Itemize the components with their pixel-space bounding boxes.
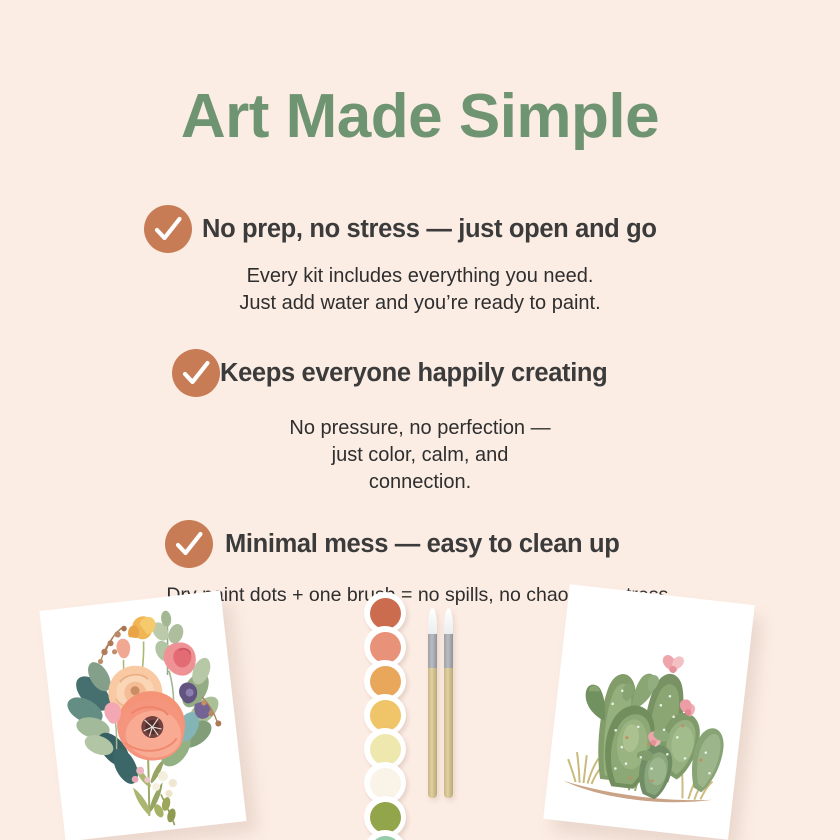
watercolor-cactus-cluster-artwork <box>543 584 755 840</box>
paint-dot-strip <box>364 592 410 840</box>
paint-dot <box>370 598 401 629</box>
brush-ferrule <box>428 634 437 668</box>
check-circle-icon <box>144 205 192 253</box>
paint-dot <box>370 734 401 765</box>
benefit-body: Every kit includes everything you need. … <box>0 263 840 317</box>
paint-dot <box>370 768 401 799</box>
brush-tip <box>428 608 437 634</box>
benefit-heading-row: No prep, no stress — just open and go <box>0 205 840 253</box>
benefit-body-line: just color, calm, and <box>0 442 840 469</box>
benefit-body-line: Just add water and you’re ready to paint… <box>0 290 840 317</box>
brush-handle <box>444 668 453 798</box>
check-circle-icon <box>165 520 213 568</box>
page-title: Art Made Simple <box>0 86 840 148</box>
cactus-art-card <box>543 584 755 840</box>
paint-dot <box>370 802 401 833</box>
paint-dot <box>370 700 401 731</box>
brush-handle <box>428 668 437 798</box>
product-scene <box>0 570 840 840</box>
benefits-list: No prep, no stress — just open and go Ev… <box>0 205 840 608</box>
brush-ferrule <box>444 634 453 668</box>
brush-tip <box>444 608 453 634</box>
benefit-body-line: Every kit includes everything you need. <box>0 263 840 290</box>
paint-brush <box>428 608 437 798</box>
benefit-heading: Minimal mess — easy to clean up <box>225 530 619 559</box>
paint-dot <box>370 836 401 840</box>
floral-art-card <box>39 590 246 840</box>
poster-canvas: Art Made Simple No prep, no stress — jus… <box>0 0 840 840</box>
benefit-heading: Keeps everyone happily creating <box>220 359 607 388</box>
check-circle-icon <box>172 349 220 397</box>
benefit-item: No prep, no stress — just open and go Ev… <box>0 205 840 317</box>
benefit-item: Keeps everyone happily creating No press… <box>0 349 840 496</box>
watercolor-floral-bouquet-artwork <box>39 590 246 840</box>
benefit-body-line: No pressure, no perfection — <box>0 415 840 442</box>
benefit-heading: No prep, no stress — just open and go <box>202 215 657 244</box>
benefit-body-line: connection. <box>0 469 840 496</box>
paint-brushes <box>426 608 462 804</box>
paint-brush <box>444 608 453 798</box>
benefit-heading-row: Minimal mess — easy to clean up <box>0 520 840 568</box>
paint-dot <box>370 666 401 697</box>
benefit-heading-row: Keeps everyone happily creating <box>0 349 840 397</box>
benefit-body: No pressure, no perfection — just color,… <box>0 415 840 496</box>
paint-dot <box>370 632 401 663</box>
